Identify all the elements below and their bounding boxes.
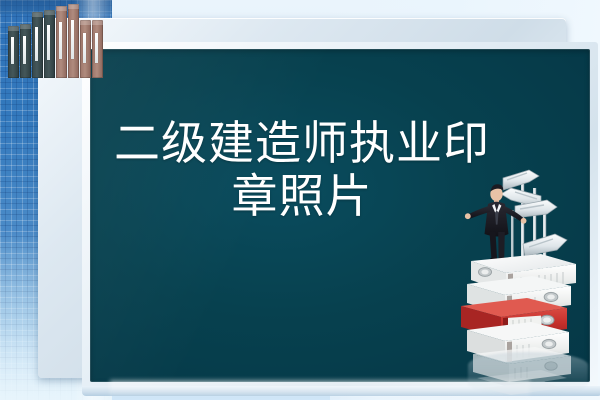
binder-item [8,26,19,78]
file-binder-row [8,0,118,78]
binder-item [32,12,43,78]
illustration-reflection [468,352,588,396]
binder-item [80,20,91,78]
binder-item [44,10,55,78]
cover-banner: 二级建造师执业印 章照片 [0,0,600,400]
binder-item [68,4,79,78]
binder-item [92,20,103,78]
binder-item [20,24,31,78]
binder-item [56,6,67,78]
